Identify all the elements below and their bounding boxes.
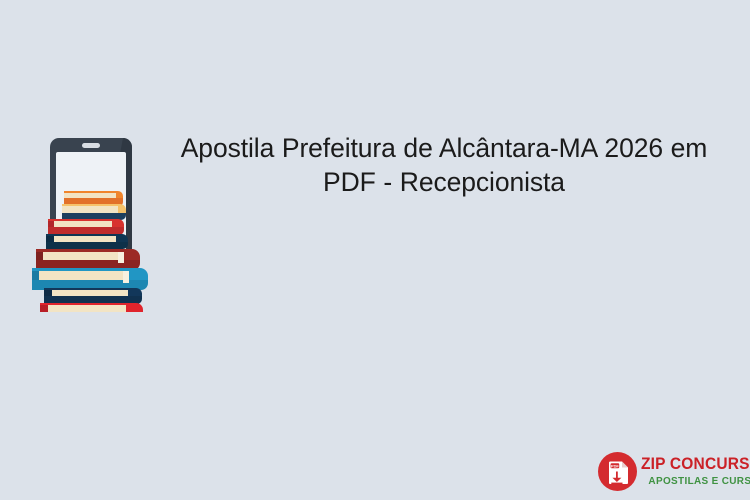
book-orange-top (64, 191, 123, 206)
book-blue-wide (32, 268, 148, 290)
page-title: Apostila Prefeitura de Alcântara-MA 2026… (168, 131, 720, 199)
book-maroon (36, 249, 140, 270)
stack-of-books-with-tablet-illustration (10, 132, 170, 312)
logo-wordmark: ZIP CONCURSOS APOSTILAS E CURSOS (641, 456, 750, 486)
book-navy-lower (44, 288, 142, 304)
logo-secondary-text: APOSTILAS E CURSOS (641, 476, 750, 487)
book-navy-upper (46, 234, 128, 249)
zip-concursos-logo[interactable]: PDF ZIP CONCURSOS APOSTILAS E CURSOS (598, 450, 744, 492)
svg-text:PDF: PDF (611, 463, 619, 468)
product-banner: Apostila Prefeitura de Alcântara-MA 2026… (0, 0, 750, 500)
book-cream (62, 204, 126, 220)
banner-title-block: Apostila Prefeitura de Alcântara-MA 2026… (168, 131, 720, 199)
book-red-lower (40, 303, 143, 312)
logo-primary-text: ZIP CONCURSOS (641, 456, 750, 473)
pdf-download-icon: PDF (598, 452, 637, 491)
book-red-upper (48, 219, 124, 235)
